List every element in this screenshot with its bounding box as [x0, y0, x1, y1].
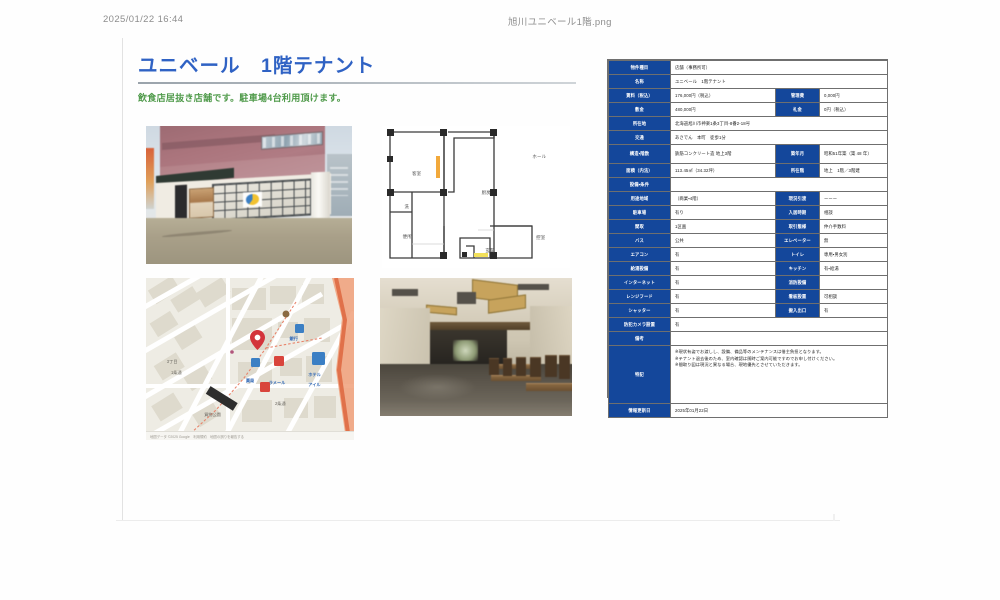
map-poi-label: ラメール	[269, 380, 286, 386]
plan-label: 玄関	[485, 248, 494, 254]
print-filename: 旭川ユニベール1階.png	[508, 14, 612, 28]
spec-label: インターネット	[609, 276, 671, 290]
spec-label: 現況引渡	[776, 192, 820, 206]
spec-label: 面積（内法）	[609, 164, 671, 178]
table-row: 備考	[609, 332, 888, 346]
spec-value: 北海道旭川市神楽1条3丁目-8番2-18号	[671, 117, 888, 131]
spec-value: ユニベール 1階テナント	[671, 75, 888, 89]
spec-label: 搬入出口	[776, 304, 820, 318]
plan-label: 便所	[403, 234, 412, 240]
table-row: 賃料（税込） 176,000円（税込） 管理費 0,000円	[609, 89, 888, 103]
print-header: 2025/01/22 16:44 旭川ユニベール1階.png	[0, 14, 1000, 30]
table-row: 給湯設備 有 キッチン 有・給湯	[609, 262, 888, 276]
plan-label: 厨房	[482, 190, 491, 196]
spec-value	[671, 332, 888, 346]
spec-value: 可相談	[820, 290, 888, 304]
table-row: 面積（内法） 113.45㎡（34.32坪） 所在階 地上 1階／3階建	[609, 164, 888, 178]
spec-value: 有	[820, 304, 888, 318]
print-timestamp: 2025/01/22 16:44	[103, 14, 183, 25]
plan-label: 洗	[405, 204, 410, 210]
plan-label: 控室	[536, 235, 545, 241]
spec-table-body: 物件種目 店舗（事務所可） 名称 ユニベール 1階テナント 賃料（税込） 176…	[609, 61, 888, 418]
spec-label: 入居時期	[776, 206, 820, 220]
spec-value: 昭和51年築（築 48 年）	[820, 145, 888, 164]
spec-value: ーーー	[820, 192, 888, 206]
map-poi-label: ホテル	[308, 372, 321, 378]
map-poi-label: 銀行	[290, 336, 298, 342]
page-frame-corner-mark	[833, 514, 835, 521]
document-page: 2025/01/22 16:44 旭川ユニベール1階.png ユニベール 1階テ…	[0, 0, 1000, 600]
spec-value: 無	[820, 234, 888, 248]
spec-label: エアコン	[609, 248, 671, 262]
spec-label: 管理費	[776, 89, 820, 103]
spec-label: 特記	[609, 346, 671, 404]
map-label: 2条通	[275, 401, 286, 407]
plan-label: ホール	[532, 154, 546, 160]
spec-label: 敷金	[609, 103, 671, 117]
interior-photo	[380, 278, 572, 416]
table-row: インターネット 有 消防設備	[609, 276, 888, 290]
spec-value: 176,000円（税込）	[671, 89, 776, 103]
listing-header: ユニベール 1階テナント 飲食店居抜き店舗です。駐車場4台利用頂けます。	[138, 56, 578, 104]
spec-label: 築年月	[776, 145, 820, 164]
table-row: 防犯カメラ設置 有	[609, 318, 888, 332]
map-poi-label: アイル	[308, 382, 320, 388]
table-row: バス 公共 エレベーター 無	[609, 234, 888, 248]
table-row-remarks: 特記 ※現状有姿でお渡しし、設備、備品等のメンテナンスは借主負担となります。 ※…	[609, 346, 888, 404]
table-row: 敷金 480,000円 礼金 0円（税込）	[609, 103, 888, 117]
spec-value: 有	[671, 276, 776, 290]
spec-value: （商業・4階）	[671, 192, 776, 206]
spec-label: 情報更新日	[609, 404, 671, 418]
spec-label: シャッター	[609, 304, 671, 318]
spec-value: 専用・男女別	[820, 248, 888, 262]
table-row: 物件種目 店舗（事務所可）	[609, 61, 888, 75]
spec-value: 公共	[671, 234, 776, 248]
page-frame-left-rule	[122, 38, 123, 520]
spec-value: 有	[671, 248, 776, 262]
spec-label: キッチン	[776, 262, 820, 276]
spec-label: 駐車場	[609, 206, 671, 220]
building-exterior-photo	[146, 126, 352, 264]
property-spec-table: 物件種目 店舗（事務所可） 名称 ユニベール 1階テナント 賃料（税込） 176…	[607, 59, 888, 398]
map-attribution-text: 地図データ ©2025 Google 利用規約 地図の誤りを報告する	[150, 434, 244, 439]
spec-value: 有	[671, 304, 776, 318]
spec-value: 有・給湯	[820, 262, 888, 276]
location-map[interactable]: 3丁目 1条通 2条通 買物公園 銀行 薬局 ラメール ホテル アイル 地図デー…	[146, 278, 354, 440]
map-label: 3丁目	[167, 359, 178, 365]
spec-value: 有	[671, 318, 888, 332]
table-row: エアコン 有 トイレ 専用・男女別	[609, 248, 888, 262]
plan-label: 客室	[412, 171, 421, 177]
spec-value: 0円（税込）	[820, 103, 888, 117]
floor-plan-drawing: 客室 ホール 厨房 洗 便所 玄関 控室	[382, 126, 570, 268]
table-row: 交通 あさでん 本町 徒歩1分	[609, 131, 888, 145]
spec-value: 有	[671, 262, 776, 276]
spec-label: 給湯設備	[609, 262, 671, 276]
page-frame-bottom-rule	[116, 520, 840, 521]
spec-label: 物件種目	[609, 61, 671, 75]
table-row: 設備・条件	[609, 178, 888, 192]
spec-value	[671, 178, 888, 192]
table-row: 間取 1区画 取引態様 仲介手数料	[609, 220, 888, 234]
spec-value: 113.45㎡（34.32坪）	[671, 164, 776, 178]
spec-label: 交通	[609, 131, 671, 145]
spec-label: エレベーター	[776, 234, 820, 248]
map-attribution-bar: 地図データ ©2025 Google 利用規約 地図の誤りを報告する	[146, 431, 354, 440]
spec-value: 仲介手数料	[820, 220, 888, 234]
map-label: 買物公園	[204, 412, 221, 418]
spec-label: 所在地	[609, 117, 671, 131]
spec-value: 2025年01月22日	[671, 404, 888, 418]
spec-value: あさでん 本町 徒歩1分	[671, 131, 888, 145]
floor-plan-svg	[382, 126, 570, 268]
table-row: シャッター 有 搬入出口 有	[609, 304, 888, 318]
spec-value: 鉄筋コンクリート造 地上3階	[671, 145, 776, 164]
spec-table: 物件種目 店舗（事務所可） 名称 ユニベール 1階テナント 賃料（税込） 176…	[608, 60, 888, 418]
spec-remarks: ※現状有姿でお渡しし、設備、備品等のメンテナンスは借主負担となります。 ※テナン…	[671, 346, 888, 404]
table-row: 情報更新日 2025年01月22日	[609, 404, 888, 418]
remark-line: ※間取り図は現況と異なる場合、現地優先とさせていただきます。	[675, 362, 883, 369]
spec-label: 礼金	[776, 103, 820, 117]
spec-label: 備考	[609, 332, 671, 346]
spec-value: 相談	[820, 206, 888, 220]
spec-label: トイレ	[776, 248, 820, 262]
spec-label: 消防設備	[776, 276, 820, 290]
spec-value: 480,000円	[671, 103, 776, 117]
listing-subtitle: 飲食店居抜き店舗です。駐車場4台利用頂けます。	[138, 91, 578, 104]
spec-label: 用途地域	[609, 192, 671, 206]
spec-label: 所在階	[776, 164, 820, 178]
spec-label: 設備・条件	[609, 178, 671, 192]
spec-value	[820, 276, 888, 290]
map-label: 1条通	[171, 370, 182, 376]
page-title: ユニベール 1階テナント	[138, 56, 578, 77]
spec-label: 取引態様	[776, 220, 820, 234]
spec-label: 名称	[609, 75, 671, 89]
map-location-pin[interactable]	[250, 330, 265, 350]
spec-value: 0,000円	[820, 89, 888, 103]
table-row: 名称 ユニベール 1階テナント	[609, 75, 888, 89]
spec-value: 有り	[671, 206, 776, 220]
spec-label: 賃料（税込）	[609, 89, 671, 103]
spec-value: 有	[671, 290, 776, 304]
spec-label: バス	[609, 234, 671, 248]
spec-label: 防犯カメラ設置	[609, 318, 671, 332]
table-row: 所在地 北海道旭川市神楽1条3丁目-8番2-18号	[609, 117, 888, 131]
table-row: 駐車場 有り 入居時期 相談	[609, 206, 888, 220]
spec-label: 看板設置	[776, 290, 820, 304]
spec-value: 1区画	[671, 220, 776, 234]
spec-label: 間取	[609, 220, 671, 234]
table-row: 用途地域 （商業・4階） 現況引渡 ーーー	[609, 192, 888, 206]
spec-label: レンジフード	[609, 290, 671, 304]
table-row: 構造・階数 鉄筋コンクリート造 地上3階 築年月 昭和51年築（築 48 年）	[609, 145, 888, 164]
spec-label: 構造・階数	[609, 145, 671, 164]
spec-value: 地上 1階／3階建	[820, 164, 888, 178]
title-divider	[138, 82, 576, 84]
table-row: レンジフード 有 看板設置 可相談	[609, 290, 888, 304]
spec-value: 店舗（事務所可）	[671, 61, 888, 75]
map-poi-label: 薬局	[246, 378, 254, 384]
